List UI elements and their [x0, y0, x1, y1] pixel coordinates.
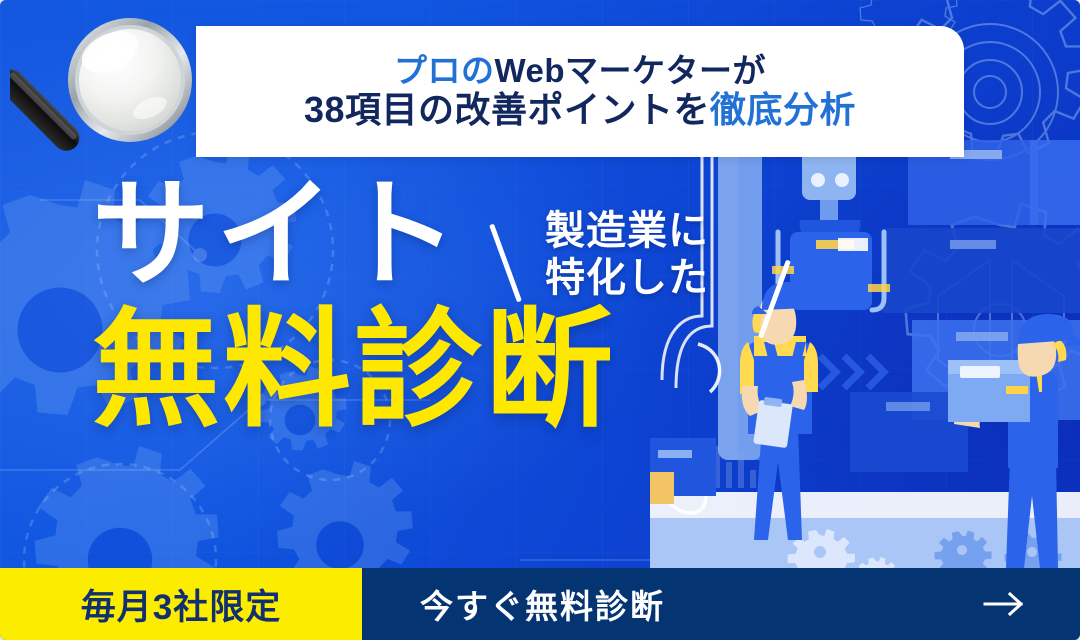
- title-line-2: 無料診断: [92, 306, 732, 437]
- sub-line-2: 特化した: [545, 255, 709, 302]
- sub-badge: 製造業に 特化した: [545, 190, 775, 320]
- limited-offer-badge: 毎月3社限定: [0, 568, 362, 640]
- limited-offer-label: 毎月3社限定: [81, 579, 281, 630]
- cta-bar: 毎月3社限定 今すぐ無料診断: [0, 568, 1080, 640]
- headline-line-1: プロのWebマーケターが: [394, 53, 766, 90]
- cta-button-label: 今すぐ無料診断: [420, 580, 665, 628]
- arrow-right-icon: [983, 591, 1025, 617]
- headline-card: プロのWebマーケターが 38項目の改善ポイントを徹底分析: [196, 26, 964, 157]
- headline-line-1-rest: Webマーケターが: [494, 52, 766, 89]
- headline-line-2-highlight: 徹底分析: [710, 89, 856, 130]
- cta-button[interactable]: 今すぐ無料診断: [362, 568, 1080, 640]
- factory-worker-icon: [940, 308, 1080, 568]
- promo-banner: プロのWebマーケターが 38項目の改善ポイントを徹底分析 サイト 無料診断 製…: [0, 0, 1080, 640]
- sub-line-1: 製造業に: [545, 208, 709, 255]
- headline-line-2: 38項目の改善ポイントを徹底分析: [304, 90, 856, 130]
- headline-line-2-rest: 38項目の改善ポイントを: [304, 89, 710, 130]
- headline-line-1-highlight: プロの: [394, 52, 495, 89]
